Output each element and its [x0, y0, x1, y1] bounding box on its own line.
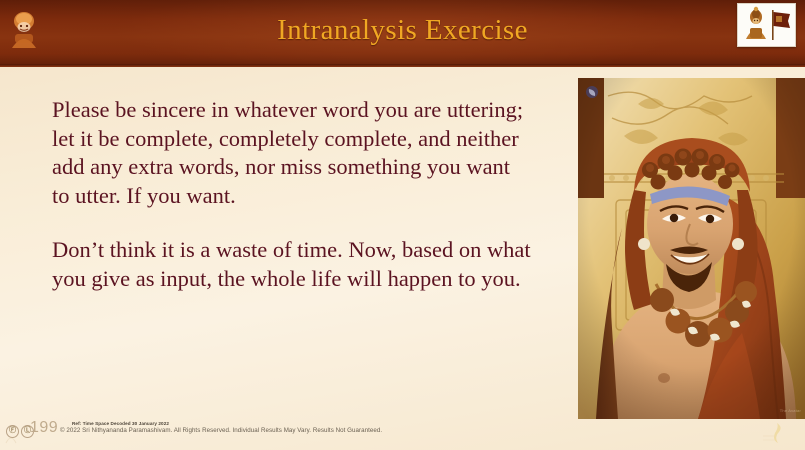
slide-footer: Ⓕ Ⓛ 199 Ref: Time Space Decoded 30 Janua… [0, 416, 805, 450]
body-paragraph-2: Don’t think it is a waste of time. Now, … [52, 236, 532, 293]
footer-text-block: Ref: Time Space Decoded 30 January 2022 … [60, 421, 382, 434]
body-paragraph-1: Please be sincere in whatever word you a… [52, 96, 532, 210]
photo-caption: The Avatar [780, 408, 801, 414]
page-number: 199 [30, 419, 58, 437]
golden-seal-watermark-icon [759, 420, 789, 446]
slide-body: Please be sincere in whatever word you a… [52, 96, 532, 293]
footer-left-watermark-icon [4, 432, 18, 444]
slide-header: Intranalysis Exercise [0, 0, 805, 67]
slide: Intranalysis Exercise Please [0, 0, 805, 450]
footer-copyright: © 2022 Sri Nithyananda Paramashivam. All… [60, 427, 382, 434]
deity-and-flag-emblem-icon[interactable] [737, 3, 796, 47]
portrait-photo: The Avatar [578, 78, 805, 419]
page-title: Intranalysis Exercise [0, 14, 805, 47]
footer-reference: Ref: Time Space Decoded 30 January 2022 [72, 421, 382, 426]
header-underline [0, 64, 805, 67]
